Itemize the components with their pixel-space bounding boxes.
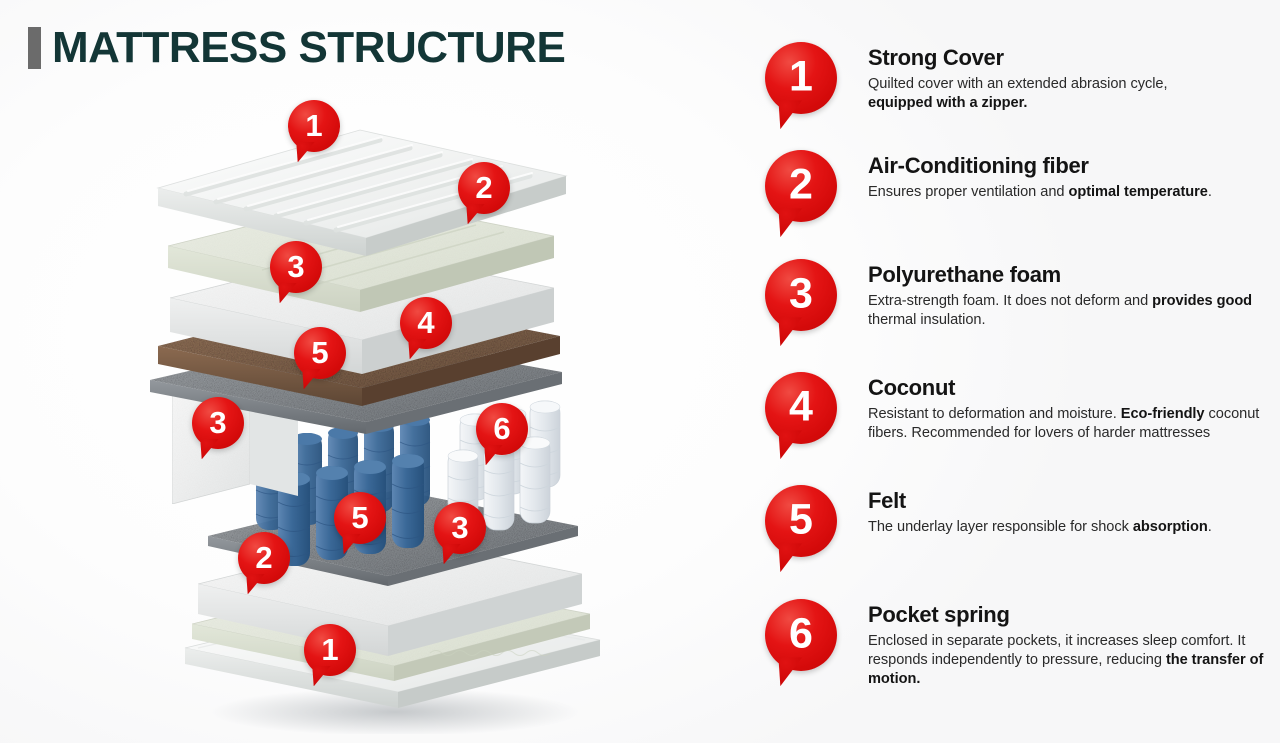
list-pin-6[interactable]: 6: [765, 599, 837, 671]
list-pin-1[interactable]: 1: [765, 42, 837, 114]
illustration-pin-3-foam-border[interactable]: 3: [192, 397, 244, 449]
list-body-6: Enclosed in separate pockets, it increas…: [868, 632, 1268, 690]
illustration-pin-5-felt-bottom[interactable]: 5: [334, 492, 386, 544]
list-heading-5: Felt: [868, 489, 1268, 514]
list-pin-2[interactable]: 2: [765, 150, 837, 222]
illustration-pin-1-bottom-cover[interactable]: 1: [304, 624, 356, 676]
list-pin-5[interactable]: 5: [765, 485, 837, 557]
list-heading-6: Pocket spring: [868, 603, 1268, 628]
illustration-pin-4-coconut[interactable]: 4: [400, 297, 452, 349]
layer-description-list: 1 Strong Cover Quilted cover with an ext…: [760, 0, 1280, 743]
illustration-pin-3-foam-bottom[interactable]: 3: [434, 502, 486, 554]
list-body-2: Ensures proper ventilation and optimal t…: [868, 183, 1268, 202]
illustration-pin-5-felt-top[interactable]: 5: [294, 327, 346, 379]
page-title: MATTRESS STRUCTURE: [28, 26, 565, 70]
mattress-illustration: 1 2 3 4 5 3 6 5 3 2 1: [130, 84, 650, 734]
illustration-pin-3-foam-top[interactable]: 3: [270, 241, 322, 293]
list-pin-4[interactable]: 4: [765, 372, 837, 444]
title-accent-bar: [28, 27, 41, 69]
page-title-text: MATTRESS STRUCTURE: [52, 26, 565, 70]
list-heading-2: Air-Conditioning fiber: [868, 154, 1268, 179]
list-body-1: Quilted cover with an extended abrasion …: [868, 75, 1268, 114]
list-heading-4: Coconut: [868, 376, 1268, 401]
list-body-3: Extra-strength foam. It does not deform …: [868, 292, 1268, 331]
illustration-pin-2-fiber-top[interactable]: 2: [458, 162, 510, 214]
list-heading-3: Polyurethane foam: [868, 263, 1268, 288]
illustration-pin-2-fiber-bottom[interactable]: 2: [238, 532, 290, 584]
illustration-pin-1-top-cover[interactable]: 1: [288, 100, 340, 152]
list-body-5: The underlay layer responsible for shock…: [868, 518, 1268, 537]
list-body-4: Resistant to deformation and moisture. E…: [868, 405, 1268, 444]
illustration-pin-6-pocket-spring[interactable]: 6: [476, 403, 528, 455]
list-heading-1: Strong Cover: [868, 46, 1268, 71]
list-pin-3[interactable]: 3: [765, 259, 837, 331]
